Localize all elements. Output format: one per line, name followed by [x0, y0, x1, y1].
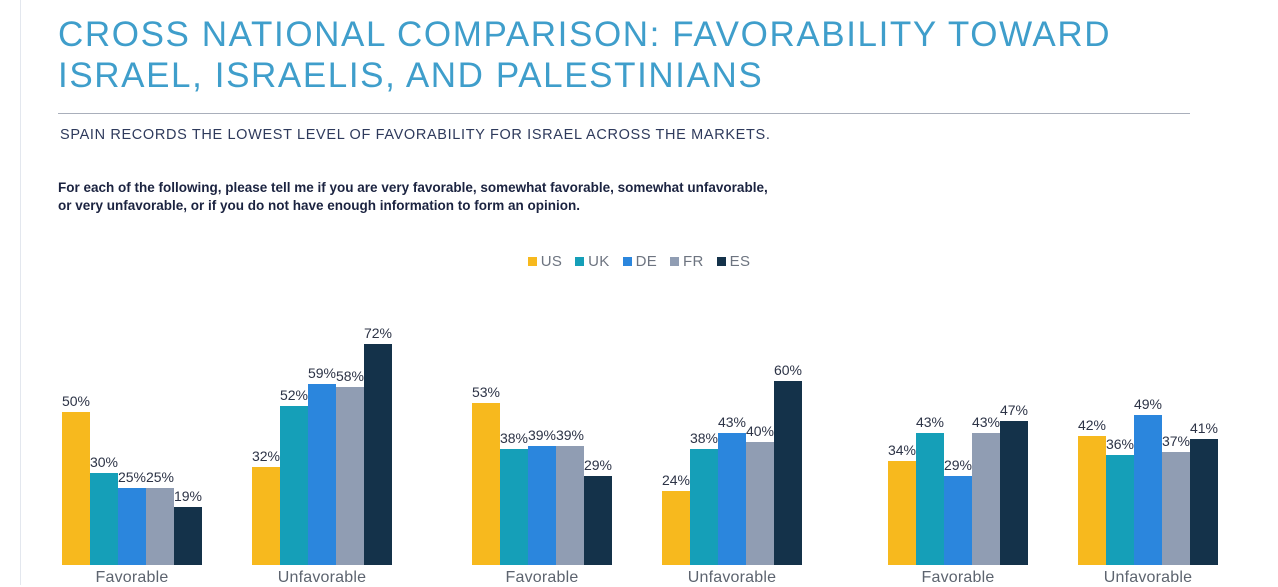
bar-de-unfavorable[interactable] — [308, 384, 336, 565]
bar-slot: 49% — [1134, 320, 1162, 565]
page-title: Cross National Comparison: Favorability … — [58, 14, 1168, 96]
bar-slot: 53% — [472, 320, 500, 565]
bar-group-favorable: 34%43%29%43%47%Favorable — [888, 320, 1028, 565]
bar-value-label: 59% — [308, 365, 336, 381]
bar-slot: 25% — [146, 320, 174, 565]
bar-value-label: 34% — [888, 442, 916, 458]
bar-slot: 32% — [252, 320, 280, 565]
bar-value-label: 47% — [1000, 402, 1028, 418]
bar-value-label: 29% — [584, 457, 612, 473]
legend-item-label: UK — [588, 253, 609, 270]
legend-item-label: FR — [683, 253, 704, 270]
bar-value-label: 24% — [662, 472, 690, 488]
legend-item-label: DE — [636, 253, 657, 270]
bar-fr-unfavorable[interactable] — [746, 442, 774, 565]
slide-canvas: Cross National Comparison: Favorability … — [0, 0, 1278, 585]
bar-fr-unfavorable[interactable] — [1162, 452, 1190, 565]
title-divider — [58, 113, 1190, 114]
bar-uk-unfavorable[interactable] — [1106, 455, 1134, 565]
bar-value-label: 60% — [774, 362, 802, 378]
category-axis-label: Favorable — [922, 569, 995, 587]
chart-legend: USUKDEFRES — [0, 253, 1278, 270]
bar-uk-unfavorable[interactable] — [690, 449, 718, 565]
bar-value-label: 25% — [118, 469, 146, 485]
bar-slot: 59% — [308, 320, 336, 565]
legend-item-de[interactable]: DE — [623, 253, 657, 270]
legend-item-uk[interactable]: UK — [575, 253, 609, 270]
bar-slot: 37% — [1162, 320, 1190, 565]
survey-question: For each of the following, please tell m… — [58, 179, 958, 214]
bar-slot: 40% — [746, 320, 774, 565]
bar-fr-favorable[interactable] — [556, 446, 584, 565]
bar-group-unfavorable: 42%36%49%37%41%Unfavorable — [1078, 320, 1218, 565]
charts-container: 50%30%25%25%19%Favorable32%52%59%58%72%U… — [0, 300, 1278, 585]
legend-item-label: US — [541, 253, 562, 270]
legend-swatch-icon — [717, 257, 726, 266]
bar-value-label: 38% — [500, 430, 528, 446]
bar-de-unfavorable[interactable] — [1134, 415, 1162, 565]
legend-item-label: ES — [730, 253, 751, 270]
bar-value-label: 50% — [62, 393, 90, 409]
bar-value-label: 36% — [1106, 436, 1134, 452]
bar-es-favorable[interactable] — [174, 507, 202, 565]
bar-de-favorable[interactable] — [528, 446, 556, 565]
bar-slot: 52% — [280, 320, 308, 565]
bar-es-unfavorable[interactable] — [1190, 439, 1218, 565]
bar-value-label: 58% — [336, 368, 364, 384]
bar-slot: 60% — [774, 320, 802, 565]
plot-area: 53%38%39%39%29%Favorable24%38%43%40%60%U… — [472, 320, 802, 565]
category-axis-label: Unfavorable — [278, 569, 366, 587]
bar-us-favorable[interactable] — [888, 461, 916, 565]
bar-value-label: 43% — [718, 414, 746, 430]
bar-slot: 43% — [718, 320, 746, 565]
category-axis-label: Favorable — [506, 569, 579, 587]
bar-slot: 36% — [1106, 320, 1134, 565]
bar-de-favorable[interactable] — [944, 476, 972, 565]
bar-fr-favorable[interactable] — [972, 433, 1000, 565]
legend-swatch-icon — [670, 257, 679, 266]
bar-es-favorable[interactable] — [584, 476, 612, 565]
legend-swatch-icon — [528, 257, 537, 266]
bar-slot: 25% — [118, 320, 146, 565]
bar-slot: 58% — [336, 320, 364, 565]
bar-slot: 19% — [174, 320, 202, 565]
bar-value-label: 19% — [174, 488, 202, 504]
bar-chart-2: 53%38%39%39%29%Favorable24%38%43%40%60%U… — [472, 300, 802, 585]
category-axis-label: Unfavorable — [1104, 569, 1192, 587]
bar-group-favorable: 53%38%39%39%29%Favorable — [472, 320, 612, 565]
bar-value-label: 39% — [556, 427, 584, 443]
bar-slot: 29% — [584, 320, 612, 565]
bar-slot: 30% — [90, 320, 118, 565]
plot-area: 34%43%29%43%47%Favorable42%36%49%37%41%U… — [888, 320, 1218, 565]
bar-slot: 29% — [944, 320, 972, 565]
bar-uk-favorable[interactable] — [90, 473, 118, 565]
bar-value-label: 49% — [1134, 396, 1162, 412]
bar-slot: 50% — [62, 320, 90, 565]
bar-value-label: 39% — [528, 427, 556, 443]
bar-value-label: 25% — [146, 469, 174, 485]
bar-slot: 38% — [500, 320, 528, 565]
bar-fr-favorable[interactable] — [146, 488, 174, 565]
bar-value-label: 42% — [1078, 417, 1106, 433]
bar-value-label: 38% — [690, 430, 718, 446]
bar-chart-3: 34%43%29%43%47%Favorable42%36%49%37%41%U… — [888, 300, 1218, 585]
bar-chart-1: 50%30%25%25%19%Favorable32%52%59%58%72%U… — [62, 300, 392, 585]
bar-de-unfavorable[interactable] — [718, 433, 746, 565]
legend-item-es[interactable]: ES — [717, 253, 751, 270]
bar-slot: 43% — [916, 320, 944, 565]
bar-slot: 38% — [690, 320, 718, 565]
legend-item-fr[interactable]: FR — [670, 253, 704, 270]
bar-uk-favorable[interactable] — [500, 449, 528, 565]
bar-uk-favorable[interactable] — [916, 433, 944, 565]
bar-value-label: 30% — [90, 454, 118, 470]
bar-value-label: 29% — [944, 457, 972, 473]
bar-us-favorable[interactable] — [62, 412, 90, 565]
bar-slot: 43% — [972, 320, 1000, 565]
bar-value-label: 53% — [472, 384, 500, 400]
bar-value-label: 52% — [280, 387, 308, 403]
survey-question-line-1: For each of the following, please tell m… — [58, 179, 958, 197]
bar-us-favorable[interactable] — [472, 403, 500, 565]
legend-swatch-icon — [575, 257, 584, 266]
bar-value-label: 37% — [1162, 433, 1190, 449]
legend-item-us[interactable]: US — [528, 253, 562, 270]
bar-value-label: 43% — [916, 414, 944, 430]
category-axis-label: Unfavorable — [688, 569, 776, 587]
bar-slot: 34% — [888, 320, 916, 565]
bar-slot: 42% — [1078, 320, 1106, 565]
bar-slot: 39% — [528, 320, 556, 565]
bar-group-unfavorable: 24%38%43%40%60%Unfavorable — [662, 320, 802, 565]
survey-question-line-2: or very unfavorable, or if you do not ha… — [58, 197, 958, 215]
bar-group-favorable: 50%30%25%25%19%Favorable — [62, 320, 202, 565]
category-axis-label: Favorable — [96, 569, 169, 587]
bar-us-unfavorable[interactable] — [1078, 436, 1106, 565]
bar-de-favorable[interactable] — [118, 488, 146, 565]
bar-slot: 47% — [1000, 320, 1028, 565]
bar-value-label: 43% — [972, 414, 1000, 430]
bar-us-unfavorable[interactable] — [662, 491, 690, 565]
bar-es-unfavorable[interactable] — [364, 344, 392, 565]
bar-es-unfavorable[interactable] — [774, 381, 802, 565]
bar-slot: 72% — [364, 320, 392, 565]
bar-slot: 24% — [662, 320, 690, 565]
bar-value-label: 32% — [252, 448, 280, 464]
bar-value-label: 40% — [746, 423, 774, 439]
slide-subtitle: SPAIN RECORDS THE LOWEST LEVEL OF FAVORA… — [60, 127, 1170, 143]
bar-group-unfavorable: 32%52%59%58%72%Unfavorable — [252, 320, 392, 565]
bar-us-unfavorable[interactable] — [252, 467, 280, 565]
plot-area: 50%30%25%25%19%Favorable32%52%59%58%72%U… — [62, 320, 392, 565]
legend-swatch-icon — [623, 257, 632, 266]
bar-value-label: 41% — [1190, 420, 1218, 436]
bar-slot: 41% — [1190, 320, 1218, 565]
bar-es-favorable[interactable] — [1000, 421, 1028, 565]
bar-slot: 39% — [556, 320, 584, 565]
bar-fr-unfavorable[interactable] — [336, 387, 364, 565]
bar-uk-unfavorable[interactable] — [280, 406, 308, 565]
bar-value-label: 72% — [364, 325, 392, 341]
